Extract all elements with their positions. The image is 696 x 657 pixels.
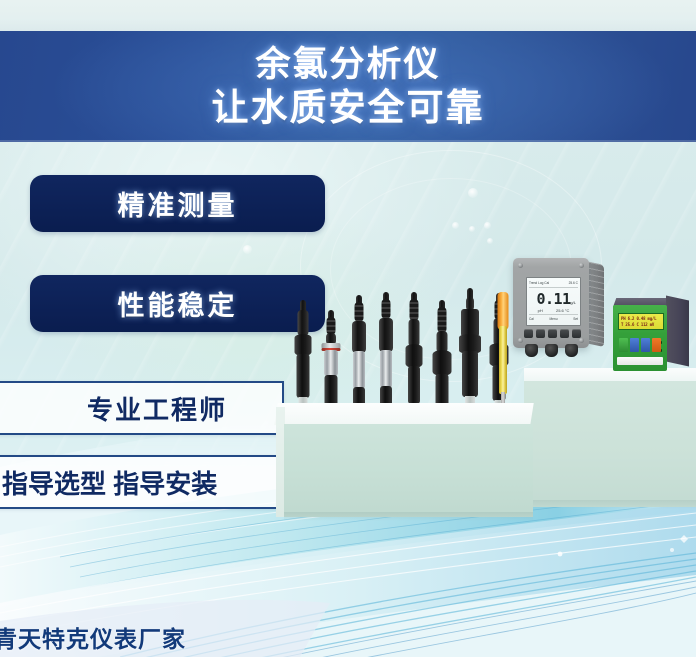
service-box-label: 指导选型 指导安装 — [0, 464, 217, 501]
top-strip — [0, 0, 696, 31]
service-box-selection-installation: 指导选型 指导安装 — [0, 455, 284, 509]
feature-badge-precise-measurement: 精准测量 — [30, 175, 325, 232]
service-box-professional-engineers: 专业工程师 — [0, 381, 284, 435]
header-banner: 余氯分析仪 让水质安全可靠 — [0, 31, 696, 142]
feature-badge-stable-performance: 性能稳定 — [30, 275, 325, 332]
feature-badge-label: 性能稳定 — [118, 284, 238, 323]
company-name-footer: 青天特克仪表厂家 — [0, 620, 186, 654]
header-title-line2: 让水质安全可靠 — [212, 89, 485, 126]
product-promo-banner: 余氯分析仪 让水质安全可靠 精准测量 性能稳定 专业工程师 指导选型 指导安装 — [0, 0, 696, 657]
service-box-label: 专业工程师 — [47, 390, 227, 427]
header-title-line1: 余氯分析仪 — [255, 47, 440, 82]
feature-badge-label: 精准测量 — [118, 184, 238, 223]
